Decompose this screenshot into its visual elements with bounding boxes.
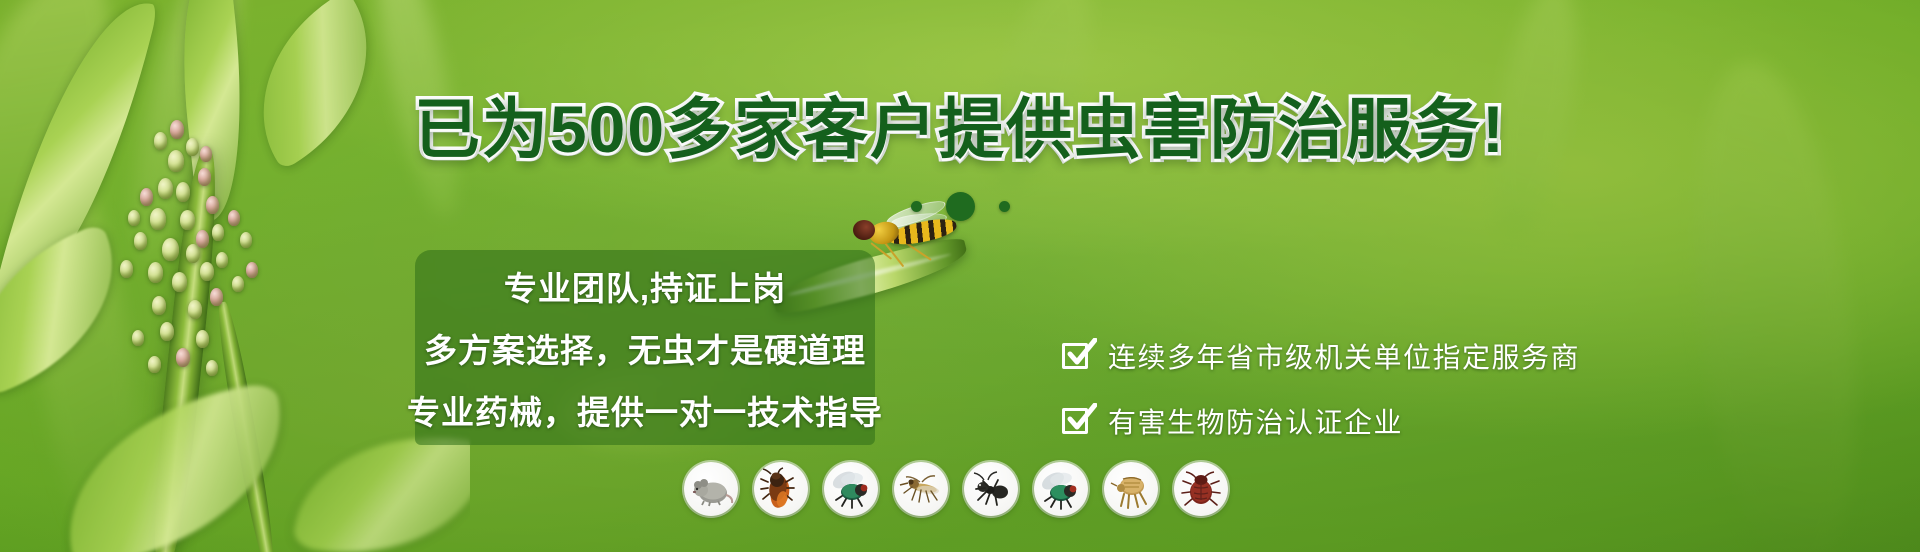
plant-bud (188, 300, 202, 319)
checkbox-checked-icon (1062, 406, 1092, 436)
credential-label: 有害生物防治认证企业 (1108, 401, 1403, 441)
plant-bud (216, 252, 228, 268)
credentials-list: 连续多年省市级机关单位指定服务商 有害生物防治认证企业 (1062, 336, 1580, 441)
plant-bud (172, 272, 187, 292)
plant-bud (162, 238, 179, 261)
cockroach-icon[interactable] (754, 462, 808, 516)
promo-banner: 已为500多家客户提供虫害防治服务! 专业团队,持证上岗 多方案选择，无虫才是硬… (0, 0, 1920, 552)
decorative-dot-row (0, 192, 1920, 221)
plant-bud (120, 260, 133, 278)
plant-bud (148, 262, 163, 283)
plant-bud (132, 330, 144, 346)
insect-leg (870, 242, 892, 260)
plant-bud (160, 322, 174, 341)
banner-headline: 已为500多家客户提供虫害防治服务! (0, 76, 1920, 172)
mouse-icon[interactable] (684, 462, 738, 516)
plant-bud (196, 330, 209, 348)
dot-small-right (999, 201, 1010, 212)
mosquito-icon[interactable] (894, 462, 948, 516)
flea-icon[interactable] (1104, 462, 1158, 516)
insect-head (853, 220, 875, 240)
plant-bud (246, 262, 258, 278)
plant-bud (232, 276, 244, 292)
blowfly-icon[interactable] (1034, 462, 1088, 516)
plant-bud (210, 288, 223, 306)
plant-bud (134, 232, 147, 250)
dot-large-center (946, 192, 975, 221)
selling-point-line: 专业药械，提供一对一技术指导 (407, 386, 883, 434)
ant-icon[interactable] (964, 462, 1018, 516)
credential-item: 连续多年省市级机关单位指定服务商 (1062, 336, 1580, 376)
selling-points-panel: 专业团队,持证上岗 多方案选择，无虫才是硬道理 专业药械，提供一对一技术指导 (415, 250, 875, 445)
plant-bud (200, 262, 214, 281)
selling-point-line: 多方案选择，无虫才是硬道理 (424, 324, 866, 372)
plant-bud (212, 224, 224, 241)
bedbug-icon[interactable] (1174, 462, 1228, 516)
plant-bud (196, 230, 209, 248)
credential-item: 有害生物防治认证企业 (1062, 401, 1580, 441)
checkbox-checked-icon (1062, 341, 1092, 371)
plant-bud (176, 348, 190, 367)
pest-icon-row (684, 462, 1228, 516)
plant-bud (206, 360, 218, 376)
banner-headline-text: 已为500多家客户提供虫害防治服务! (414, 76, 1506, 172)
plant-bud (240, 232, 252, 248)
dot-small-left (911, 201, 922, 212)
fly-icon[interactable] (824, 462, 878, 516)
selling-point-line: 专业团队,持证上岗 (504, 262, 786, 310)
plant-bud (152, 296, 166, 315)
plant-bud (148, 356, 161, 373)
credential-label: 连续多年省市级机关单位指定服务商 (1108, 336, 1580, 376)
